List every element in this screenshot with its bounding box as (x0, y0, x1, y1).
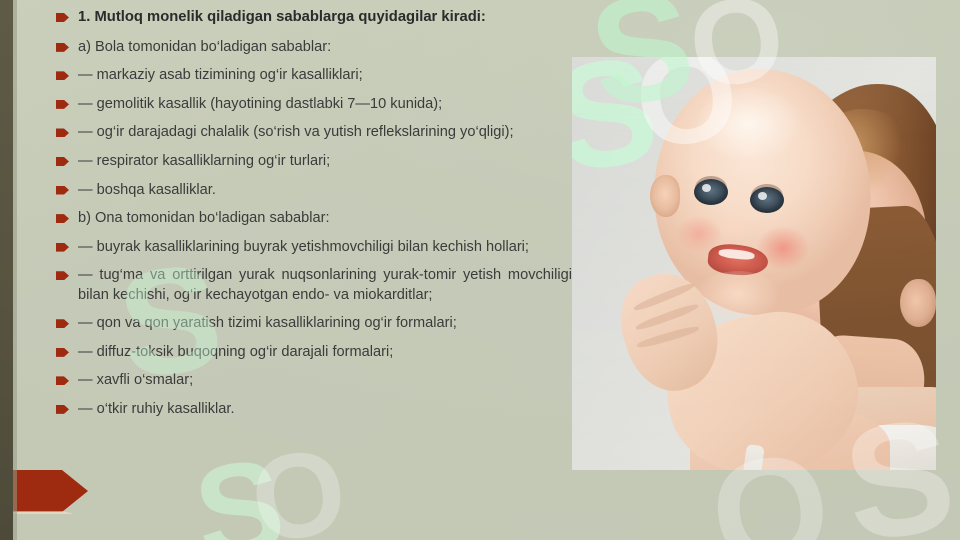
bullet-line-psych: — o‘tkir ruhiy kasalliklar. (56, 400, 572, 420)
bullet-line-text: — diffuz-toksik buqoqning og‘ir darajali… (78, 344, 393, 360)
bullet-line-text: — xavfli o‘smalar; (78, 372, 193, 388)
bullet-line-text: — tug‘ma va orttirilgan yurak nuqsonlari… (78, 267, 572, 303)
photo-sheen (572, 57, 936, 470)
mother-baby-photo: S O (572, 57, 936, 470)
bullet-arrow-icon (56, 157, 69, 166)
bullet-line-other: — boshqa kasalliklar. (56, 181, 572, 201)
bullet-line-blood: — qon va qon yaratish tizimi kasalliklar… (56, 314, 572, 334)
bullet-line-text: a) Bola tomonidan bo‘ladigan sabablar: (78, 39, 331, 55)
bullet-line-cns: — markaziy asab tizimining og‘ir kasalli… (56, 66, 572, 86)
bullet-line-text: — og‘ir darajadagi chalalik (so‘rish va … (78, 124, 514, 140)
bullet-arrow-icon (56, 319, 69, 328)
bullet-line-b: b) Ona tomonidan bo‘ladigan sabablar: (56, 209, 572, 229)
bullet-arrow-icon (56, 271, 69, 280)
left-edge-band-inner (13, 0, 17, 540)
bullet-line-prematurity: — og‘ir darajadagi chalalik (so‘rish va … (56, 123, 572, 143)
bullet-arrow-icon (56, 43, 69, 52)
bullet-arrow-icon (56, 13, 69, 22)
bullet-arrow-icon (56, 376, 69, 385)
watermark-glyph-o-bottomleft: O (244, 430, 349, 540)
bullet-arrow-icon (56, 186, 69, 195)
bullet-arrow-icon (56, 348, 69, 357)
bullet-line-kidney: — buyrak kasalliklarining buyrak yetishm… (56, 238, 572, 258)
left-edge-band (0, 0, 13, 540)
bullet-arrow-icon (56, 71, 69, 80)
bullet-arrow-icon (56, 405, 69, 414)
bullet-line-text: — markaziy asab tizimining og‘ir kasalli… (78, 67, 363, 83)
bullet-line-text: — qon va qon yaratish tizimi kasalliklar… (78, 315, 457, 331)
bullet-line-respirator: — respirator kasalliklarning og‘ir turla… (56, 152, 572, 172)
watermark-glyph-s-bottomleft: S (187, 439, 287, 540)
bullet-line-hemolytic: — gemolitik kasallik (hayotining dastlab… (56, 95, 572, 115)
bullet-arrow-icon (56, 100, 69, 109)
bullet-line-heart: — tug‘ma va orttirilgan yurak nuqsonlari… (56, 266, 572, 305)
bullet-line-text: — buyrak kasalliklarining buyrak yetishm… (78, 239, 529, 255)
bullet-line-text: 1. Mutloq monelik qiladigan sabablarga q… (78, 9, 486, 25)
slide-body-text: 1. Mutloq monelik qiladigan sabablarga q… (56, 8, 572, 428)
slide-canvas: S S O O S 1. Mutloq monelik qiladigan sa… (0, 0, 960, 540)
bullet-arrow-icon (56, 128, 69, 137)
bullet-line-text: b) Ona tomonidan bo‘ladigan sabablar: (78, 210, 330, 226)
bullet-line-tumor: — xavfli o‘smalar; (56, 371, 572, 391)
bullet-line-a: a) Bola tomonidan bo‘ladigan sabablar: (56, 38, 572, 58)
bullet-line-text: — gemolitik kasallik (hayotining dastlab… (78, 96, 442, 112)
bullet-line-text: — respirator kasalliklarning og‘ir turla… (78, 153, 330, 169)
bullet-line-title: 1. Mutloq monelik qiladigan sabablarga q… (56, 8, 572, 28)
bullet-arrow-icon (56, 214, 69, 223)
bullet-arrow-icon (56, 243, 69, 252)
bullet-line-text: — o‘tkir ruhiy kasalliklar. (78, 401, 235, 417)
bullet-line-goiter: — diffuz-toksik buqoqning og‘ir darajali… (56, 343, 572, 363)
bullet-line-text: — boshqa kasalliklar. (78, 182, 216, 198)
